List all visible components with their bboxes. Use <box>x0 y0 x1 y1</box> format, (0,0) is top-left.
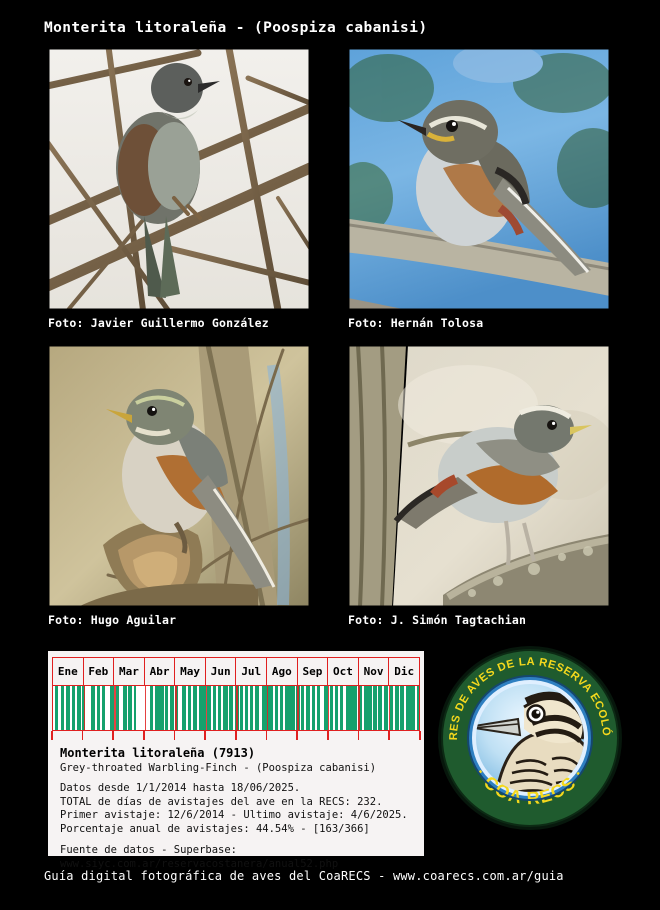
sighting-bar <box>306 686 310 730</box>
photo-3-caption: Foto: Hugo Aguilar <box>48 613 176 627</box>
month-divider <box>206 686 208 730</box>
photo-1-caption: Foto: Javier Guillermo González <box>48 316 269 330</box>
sighting-bar <box>364 686 372 730</box>
sighting-bar <box>378 686 381 730</box>
photo-1[interactable] <box>48 48 310 310</box>
sighting-bar <box>102 686 105 730</box>
month-tick <box>204 731 206 740</box>
month-tick <box>419 731 421 740</box>
month-cell-ago: Ago <box>267 658 298 685</box>
month-divider <box>114 686 116 730</box>
sighting-bar <box>229 686 232 730</box>
sighting-bar <box>188 686 191 730</box>
month-tick <box>235 731 237 740</box>
sighting-bar <box>61 686 64 730</box>
month-tick <box>327 731 329 740</box>
sighting-bar <box>91 686 95 730</box>
sighting-bar <box>150 686 154 730</box>
month-divider <box>389 686 391 730</box>
sighting-bar <box>335 686 339 730</box>
sighting-bar <box>330 686 333 730</box>
month-cell-abr: Abr <box>145 658 176 685</box>
calendar-tick-row <box>52 731 420 742</box>
month-divider <box>328 686 330 730</box>
month-divider <box>175 686 177 730</box>
sighting-bar <box>116 686 119 730</box>
month-divider <box>267 686 269 730</box>
month-tick <box>296 731 298 740</box>
sightings-panel: EneFebMarAbrMayJunJulAgoSepOctNovDic Mon… <box>48 651 424 856</box>
sighting-bar <box>128 686 131 730</box>
page-footer: Guía digital fotográfica de aves del Coa… <box>44 869 564 883</box>
month-tick <box>266 731 268 740</box>
sighting-bar <box>280 686 283 730</box>
species-name: Monterita litoraleña (7913) <box>60 746 424 760</box>
species-info: Monterita litoraleña (7913) Grey-throate… <box>48 742 424 872</box>
sighting-bar <box>165 686 168 730</box>
month-divider <box>297 686 299 730</box>
month-divider <box>145 686 147 730</box>
month-cell-jul: Jul <box>236 658 267 685</box>
photo-2-caption: Foto: Hernán Tolosa <box>348 316 483 330</box>
sighting-bar <box>346 686 357 730</box>
month-divider <box>236 686 238 730</box>
calendar-month-header: EneFebMarAbrMayJunJulAgoSepOctNovDic <box>52 657 420 686</box>
species-english-name: Grey-throated Warbling-Finch - (Poospiza… <box>60 762 424 774</box>
sighting-bar <box>182 686 186 730</box>
month-divider <box>84 686 86 730</box>
data-range-line: Datos desde 1/1/2014 hasta 18/06/2025. <box>60 782 424 796</box>
sighting-bar <box>406 686 416 730</box>
sighting-bar <box>285 686 295 730</box>
sighting-bar <box>275 686 279 730</box>
sighting-bar <box>245 686 249 730</box>
first-last-sighting-line: Primer avistaje: 12/6/2014 - Ultimo avis… <box>60 809 424 823</box>
sighting-bar <box>312 686 315 730</box>
month-cell-mar: Mar <box>114 658 145 685</box>
sightings-barcode-chart <box>52 686 420 731</box>
month-cell-dic: Dic <box>389 658 420 685</box>
page-title: Monterita litoraleña - (Poospiza cabanis… <box>44 20 427 36</box>
month-cell-may: May <box>175 658 206 685</box>
total-days-line: TOTAL de días de avistajes del ave en la… <box>60 796 424 810</box>
sighting-bar <box>255 686 259 730</box>
photo-4[interactable] <box>348 345 610 607</box>
month-tick <box>51 731 53 740</box>
sighting-bar <box>218 686 221 730</box>
sighting-bar <box>72 686 75 730</box>
sighting-bar <box>250 686 253 730</box>
month-cell-nov: Nov <box>359 658 390 685</box>
photo-1-image <box>48 48 310 310</box>
annual-percent-line: Porcentaje anual de avistajes: 44.54% - … <box>60 823 424 837</box>
photo-2-image <box>348 48 610 310</box>
month-cell-feb: Feb <box>84 658 115 685</box>
sighting-bar <box>55 686 59 730</box>
sighting-bar <box>66 686 70 730</box>
guide-page: Monterita litoraleña - (Poospiza cabanis… <box>0 0 660 910</box>
month-cell-jun: Jun <box>206 658 237 685</box>
sighting-bar <box>400 686 404 730</box>
sighting-bar <box>170 686 174 730</box>
month-tick <box>174 731 176 740</box>
month-tick <box>388 731 390 740</box>
photo-4-image <box>348 345 610 607</box>
sighting-bar <box>373 686 377 730</box>
month-tick <box>112 731 114 740</box>
sighting-bar <box>77 686 81 730</box>
sighting-bar <box>417 686 420 730</box>
photo-3[interactable] <box>48 345 310 607</box>
coarecs-logo[interactable]: CLUB DE OBSERVADORES DE AVES DE LA RESER… <box>437 645 623 831</box>
sighting-bar <box>213 686 217 730</box>
sighting-bar <box>317 686 321 730</box>
sighting-bar <box>134 686 137 730</box>
sighting-bar <box>301 686 304 730</box>
sighting-bar <box>390 686 393 730</box>
month-tick <box>82 731 84 740</box>
photo-3-image <box>48 345 310 607</box>
month-cell-oct: Oct <box>328 658 359 685</box>
photo-4-caption: Foto: J. Simón Tagtachian <box>348 613 526 627</box>
month-cell-sep: Sep <box>298 658 329 685</box>
source-label: Fuente de datos - Superbase: <box>60 844 424 858</box>
month-tick <box>358 731 360 740</box>
sighting-bar <box>97 686 100 730</box>
sighting-bar <box>123 686 127 730</box>
info-spacer <box>60 836 424 844</box>
sighting-bar <box>155 686 164 730</box>
month-divider <box>358 686 360 730</box>
sighting-bar <box>207 686 210 730</box>
photo-2[interactable] <box>348 48 610 310</box>
sighting-bar <box>240 686 243 730</box>
month-cell-ene: Ene <box>52 658 84 685</box>
month-tick <box>143 731 145 740</box>
sighting-bar <box>340 686 343 730</box>
sighting-bar <box>395 686 399 730</box>
sighting-bar <box>223 686 228 730</box>
sighting-bar <box>193 686 197 730</box>
